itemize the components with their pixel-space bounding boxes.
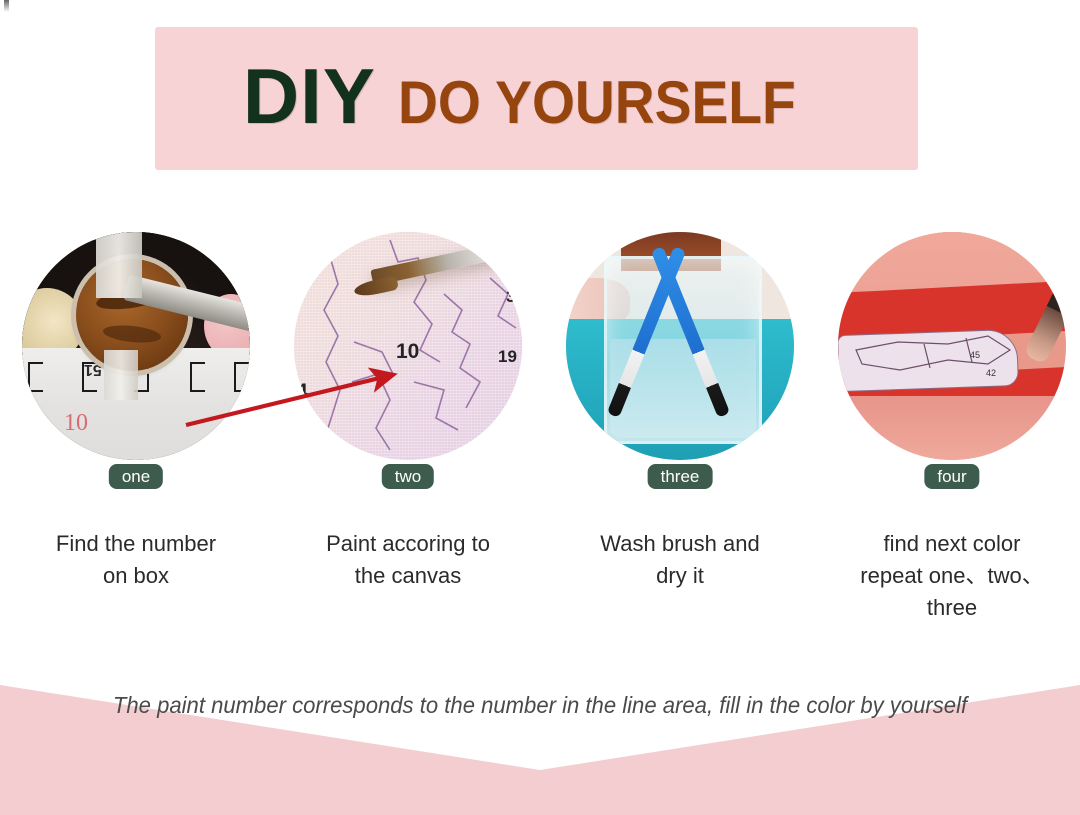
- caption-line: repeat one、two、: [822, 560, 1080, 592]
- canvas-number-4: 4: [296, 380, 308, 404]
- step-four: 45 42: [838, 232, 1066, 460]
- caption-line: on box: [6, 560, 266, 592]
- step-three-photo: [566, 232, 794, 460]
- step-three: [566, 232, 794, 460]
- step-one-photo: 51 10: [22, 232, 250, 460]
- caption-line: the canvas: [278, 560, 538, 592]
- step-one-caption: Find the number on box: [6, 528, 266, 592]
- caption-line: find next color: [822, 528, 1080, 560]
- steps-row: 51 10: [0, 232, 1080, 502]
- title-do-yourself: DO YOURSELF: [398, 73, 796, 133]
- step-two-photo: 4 10 19 3: [294, 232, 522, 460]
- footer-note: The paint number corresponds to the numb…: [22, 692, 1059, 719]
- step-badge-three: three: [648, 464, 713, 489]
- caption-line: Find the number: [6, 528, 266, 560]
- canvas-number-19: 19: [498, 347, 517, 367]
- step-three-caption: Wash brush and dry it: [550, 528, 810, 592]
- header-banner: DIY DO YOURSELF: [155, 27, 918, 170]
- caption-line: Paint accoring to: [278, 528, 538, 560]
- tray-cell-text: 51: [84, 360, 102, 378]
- caption-line: three: [822, 592, 1080, 624]
- step-badge-two: two: [382, 464, 434, 489]
- step-badge-four: four: [924, 464, 979, 489]
- step-four-caption: find next color repeat one、two、 three: [822, 528, 1080, 624]
- canvas-number-45: 45: [970, 350, 980, 360]
- title-diy: DIY: [243, 57, 376, 135]
- caption-line: dry it: [550, 560, 810, 592]
- canvas-number-3: 3: [506, 287, 515, 307]
- banner-title: DIY DO YOURSELF: [243, 57, 830, 135]
- water-jar-icon: [604, 256, 762, 444]
- footer-banner: The paint number corresponds to the numb…: [0, 640, 1080, 815]
- diy-instruction-page: DIY DO YOURSELF 51: [0, 0, 1080, 815]
- corner-artifact: [4, 0, 9, 12]
- step-one: 51 10: [22, 232, 250, 460]
- step-badge-one: one: [109, 464, 163, 489]
- step-two-caption: Paint accoring to the canvas: [278, 528, 538, 592]
- step-four-photo: 45 42: [838, 232, 1066, 460]
- canvas-number-10: 10: [396, 340, 419, 364]
- paint-number-label: 10: [64, 410, 88, 437]
- canvas-number-42: 42: [986, 368, 996, 378]
- footer-chevron-shape: [0, 640, 1080, 815]
- step-two: 4 10 19 3: [294, 232, 522, 460]
- caption-line: Wash brush and: [550, 528, 810, 560]
